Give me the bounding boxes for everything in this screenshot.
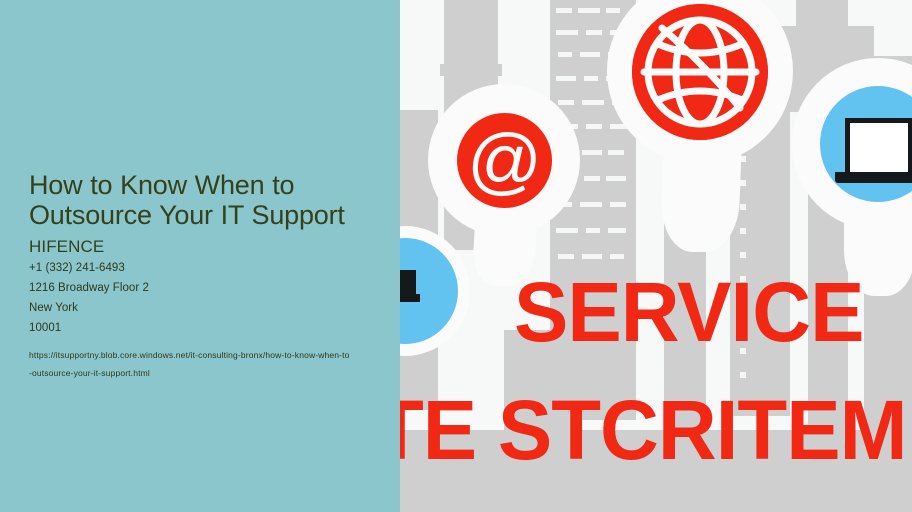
source-url-link[interactable]: https://itsupportny.blob.core.windows.ne… — [29, 346, 351, 382]
address-city: New York — [29, 298, 374, 318]
at-symbol-glyph: @ — [457, 113, 552, 208]
laptop-edge-base — [400, 294, 420, 302]
globe-icon-graphic — [632, 4, 768, 140]
company-name: HIFENCE — [29, 236, 374, 258]
address-zip: 10001 — [29, 318, 374, 338]
info-panel: How to Know When to Outsource Your IT Su… — [0, 0, 400, 512]
globe-icon — [632, 4, 768, 140]
headline-line-2: TE STCRITEM — [400, 370, 907, 490]
laptop-edge-screen — [400, 270, 416, 294]
info-panel-content: How to Know When to Outsource Your IT Su… — [29, 170, 374, 382]
headline-line-1: SERVICE — [514, 252, 863, 372]
address-street: 1216 Broadway Floor 2 — [29, 278, 374, 298]
laptop-screen-frame — [845, 118, 912, 172]
article-preview-card: How to Know When to Outsource Your IT Su… — [0, 0, 912, 512]
at-symbol-icon: @ — [457, 113, 552, 208]
laptop-base — [835, 172, 912, 183]
laptop-screen — [850, 123, 908, 172]
phone-number[interactable]: +1 (332) 241-6493 — [29, 258, 374, 278]
illustration-panel: @ — [400, 0, 912, 512]
page-title: How to Know When to Outsource Your IT Su… — [29, 170, 374, 230]
